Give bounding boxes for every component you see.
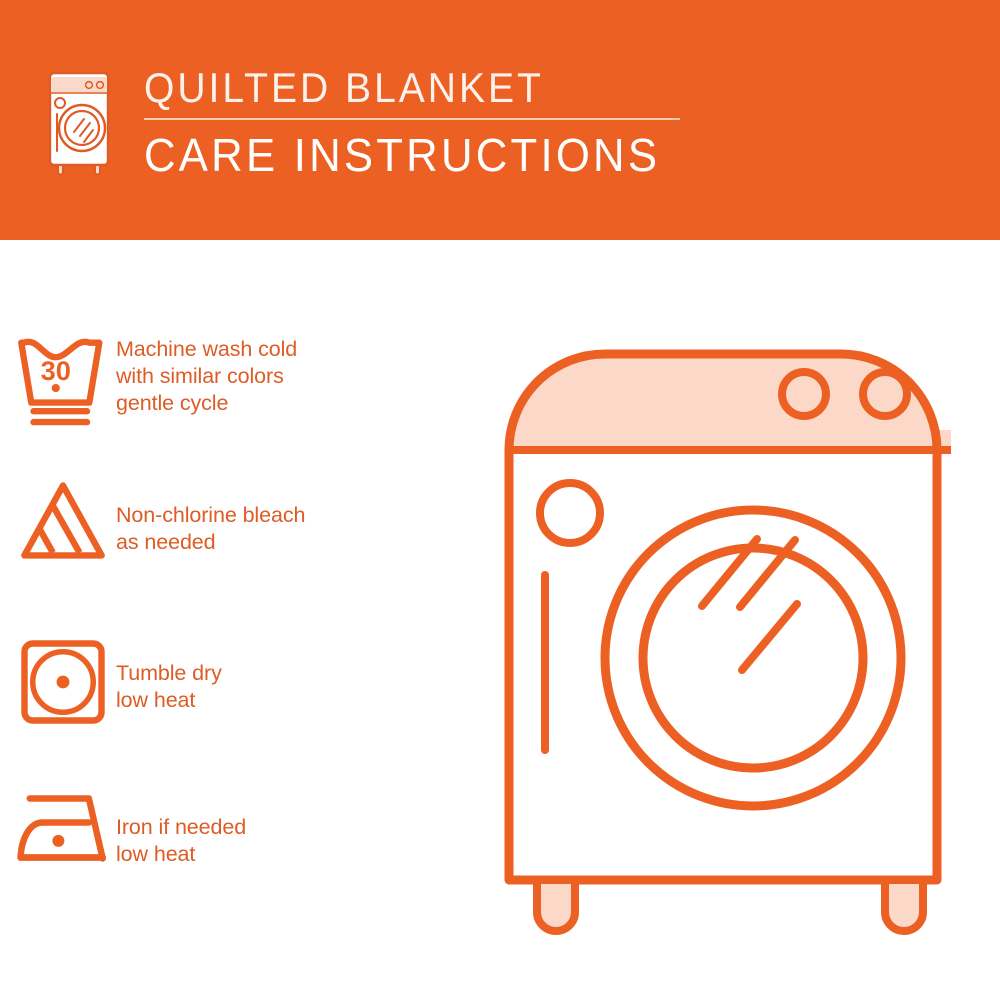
tumble-dry-low-heat-icon <box>0 638 116 726</box>
care-item-iron-label: Iron if needed low heat <box>116 790 246 868</box>
care-item-bleach: Non-chlorine bleach as needed <box>0 478 470 563</box>
care-item-machine-wash-label: Machine wash cold with similar colors ge… <box>116 330 297 417</box>
non-chlorine-bleach-triangle-icon <box>0 478 116 563</box>
care-text-line: Non-chlorine bleach <box>116 502 305 529</box>
wash-tub-30-gentle-icon: 30 <box>0 330 116 428</box>
front-load-washing-machine-illustration <box>495 330 965 940</box>
washing-machine-icon <box>46 66 116 178</box>
svg-text:30: 30 <box>41 355 71 386</box>
care-item-machine-wash: 30 Machine wash cold with similar colors… <box>0 330 470 428</box>
title-divider <box>144 118 680 120</box>
foot-left <box>537 880 575 931</box>
care-item-tumble-dry-label: Tumble dry low heat <box>116 638 222 714</box>
care-text-line: gentle cycle <box>116 390 297 417</box>
care-text-line: Machine wash cold <box>116 336 297 363</box>
page-title-primary: QUILTED BLANKET <box>144 62 721 114</box>
foot-right <box>885 880 923 931</box>
care-text-line: Iron if needed <box>116 814 246 841</box>
care-item-iron: Iron if needed low heat <box>0 790 470 868</box>
header-band: QUILTED BLANKET CARE INSTRUCTIONS <box>0 0 1000 240</box>
care-text-line: Tumble dry <box>116 660 222 687</box>
care-text-line: low heat <box>116 687 222 714</box>
care-text-line: as needed <box>116 529 305 556</box>
care-text-line: with similar colors <box>116 363 297 390</box>
page-title-secondary: CARE INSTRUCTIONS <box>144 128 733 182</box>
iron-low-heat-icon <box>0 790 116 866</box>
care-item-bleach-label: Non-chlorine bleach as needed <box>116 478 305 556</box>
care-text-line: low heat <box>116 841 246 868</box>
care-item-tumble-dry: Tumble dry low heat <box>0 638 470 726</box>
header-title-block: QUILTED BLANKET CARE INSTRUCTIONS <box>144 62 764 182</box>
